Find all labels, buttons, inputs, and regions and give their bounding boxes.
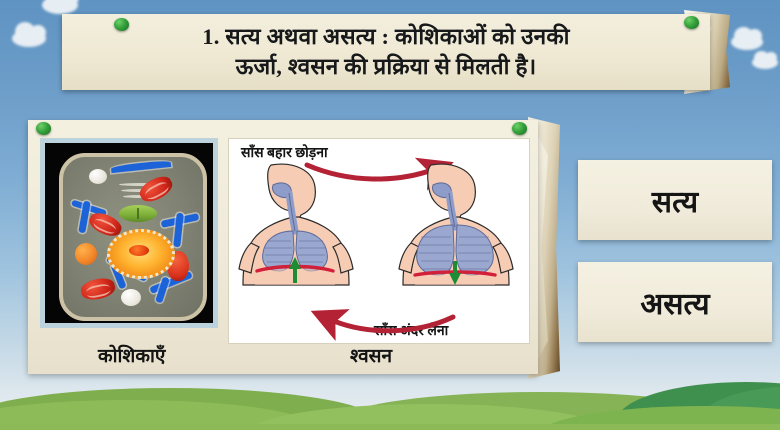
respiration-diagram-canvas: साँस बहार छोड़ना साँस अंदर लेना — [229, 139, 529, 343]
vacuole-shape — [75, 243, 97, 265]
mitochondrion-shape — [79, 276, 116, 303]
question-line-1: 1. सत्य अथवा असत्य : कोशिकाओं को उनकी — [202, 22, 569, 52]
illustration-panel: साँस बहार छोड़ना साँस अंदर लेना — [28, 120, 538, 374]
pin-icon — [36, 122, 51, 135]
cloud-icon — [752, 56, 778, 69]
respiration-diagram-image: साँस बहार छोड़ना साँस अंदर लेना — [228, 138, 530, 344]
mitochondrion-shape — [136, 172, 175, 206]
chloroplast-shape — [119, 205, 157, 222]
nucleolus-shape — [129, 245, 149, 256]
cell-diagram-image — [40, 138, 218, 328]
question-banner: 1. सत्य अथवा असत्य : कोशिकाओं को उनकी ऊर… — [62, 14, 710, 90]
cloud-icon — [12, 30, 46, 47]
answer-false-button[interactable]: असत्य — [578, 262, 772, 342]
cell-image-caption: कोशिकाएँ — [98, 342, 165, 368]
cell-diagram-canvas — [45, 143, 213, 323]
vacuole-shape — [121, 289, 141, 306]
ground-strip — [0, 424, 780, 430]
cell-membrane-shape — [59, 153, 207, 321]
question-text: 1. सत्य अथवा असत्य : कोशिकाओं को उनकी ऊर… — [62, 14, 710, 90]
endoplasmic-reticulum-shape — [111, 160, 171, 173]
pin-icon — [114, 18, 129, 31]
answer-true-button[interactable]: सत्य — [578, 160, 772, 240]
human-torso-inhale — [397, 161, 515, 293]
pin-icon — [684, 16, 699, 29]
question-line-2: ऊर्जा, श्वसन की प्रक्रिया से मिलती है। — [236, 52, 537, 82]
respiration-image-caption: श्वसन — [350, 342, 392, 368]
human-torso-exhale — [237, 161, 355, 293]
slide-canvas: 1. सत्य अथवा असत्य : कोशिकाओं को उनकी ऊर… — [0, 0, 780, 430]
vacuole-shape — [89, 169, 107, 184]
inhale-arrow — [329, 317, 453, 331]
cloud-icon — [731, 34, 763, 50]
pin-icon — [512, 122, 527, 135]
